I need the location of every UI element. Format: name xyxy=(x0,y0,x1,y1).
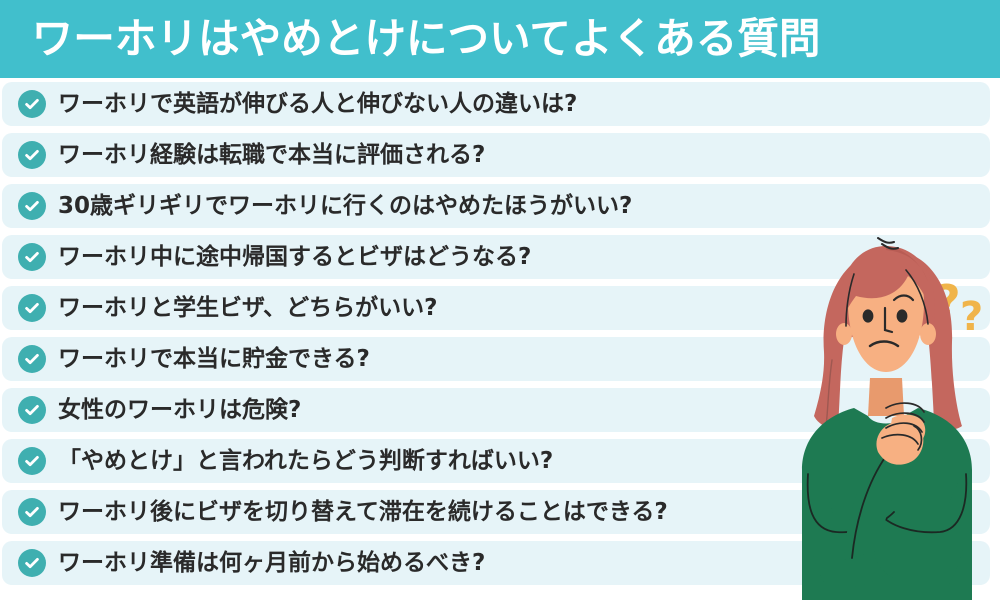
check-circle-icon xyxy=(18,345,46,373)
list-item-label: ワーホリ準備は何ヶ月前から始めるべき? xyxy=(58,552,485,575)
list-item-label: ワーホリで英語が伸びる人と伸びない人の違いは? xyxy=(58,93,577,116)
list-item-label: ワーホリ中に途中帰国するとビザはどうなる? xyxy=(58,246,531,269)
check-circle-icon xyxy=(18,243,46,271)
check-circle-icon xyxy=(18,396,46,424)
faq-list: ワーホリで英語が伸びる人と伸びない人の違いは? ワーホリ経験は転職で本当に評価さ… xyxy=(0,82,1000,600)
list-item-label: ワーホリ後にビザを切り替えて滞在を続けることはできる? xyxy=(58,501,668,524)
list-item-label: 女性のワーホリは危険? xyxy=(58,399,301,422)
check-circle-icon xyxy=(18,192,46,220)
list-item-label: ワーホリで本当に貯金できる? xyxy=(58,348,370,371)
check-circle-icon xyxy=(18,447,46,475)
faq-infographic: ワーホリはやめとけについてよくある質問 ワーホリで英語が伸びる人と伸びない人の違… xyxy=(0,0,1000,600)
list-item-label: ワーホリ経験は転職で本当に評価される? xyxy=(58,144,485,167)
list-item[interactable]: 「やめとけ」と言われたらどう判断すればいい? xyxy=(2,439,990,483)
list-item[interactable]: ワーホリで英語が伸びる人と伸びない人の違いは? xyxy=(2,82,990,126)
list-item-label: 30歳ギリギリでワーホリに行くのはやめたほうがいい? xyxy=(58,195,632,218)
check-circle-icon xyxy=(18,141,46,169)
list-item[interactable]: 30歳ギリギリでワーホリに行くのはやめたほうがいい? xyxy=(2,184,990,228)
list-item[interactable]: ワーホリ後にビザを切り替えて滞在を続けることはできる? xyxy=(2,490,990,534)
page-title: ワーホリはやめとけについてよくある質問 xyxy=(0,18,820,60)
check-circle-icon xyxy=(18,90,46,118)
list-item[interactable]: ワーホリと学生ビザ、どちらがいい? xyxy=(2,286,990,330)
list-item[interactable]: 女性のワーホリは危険? xyxy=(2,388,990,432)
list-item[interactable]: ワーホリ中に途中帰国するとビザはどうなる? xyxy=(2,235,990,279)
list-item[interactable]: ワーホリで本当に貯金できる? xyxy=(2,337,990,381)
list-item[interactable]: ワーホリ経験は転職で本当に評価される? xyxy=(2,133,990,177)
header-banner: ワーホリはやめとけについてよくある質問 xyxy=(0,0,1000,78)
list-item-label: ワーホリと学生ビザ、どちらがいい? xyxy=(58,297,438,320)
list-item[interactable]: ワーホリ準備は何ヶ月前から始めるべき? xyxy=(2,541,990,585)
check-circle-icon xyxy=(18,498,46,526)
check-circle-icon xyxy=(18,294,46,322)
list-item-label: 「やめとけ」と言われたらどう判断すればいい? xyxy=(58,450,553,473)
check-circle-icon xyxy=(18,549,46,577)
